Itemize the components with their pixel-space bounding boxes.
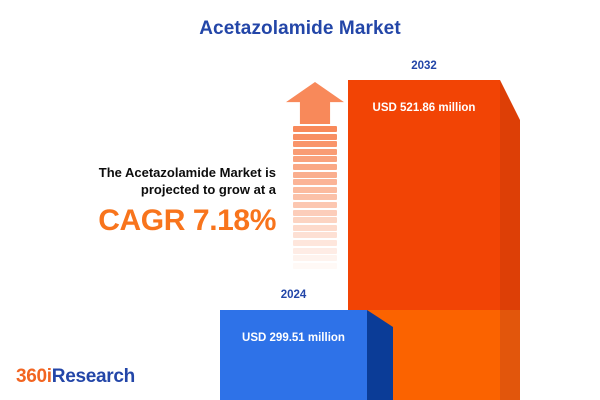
bar-value-2032: USD 521.86 million bbox=[348, 102, 500, 114]
arrow-stripe bbox=[293, 225, 337, 231]
arrow-stripe bbox=[293, 141, 337, 147]
cagr-statement: The Acetazolamide Market is projected to… bbox=[46, 164, 276, 238]
arrow-stripe bbox=[293, 202, 337, 208]
arrow-head-shape bbox=[286, 82, 344, 124]
bar-2024-side-face bbox=[367, 310, 393, 400]
arrow-stripe bbox=[293, 217, 337, 223]
arrow-stripe bbox=[293, 263, 337, 269]
arrow-stripe bbox=[293, 232, 337, 238]
arrow-stripe bbox=[293, 187, 337, 193]
arrow-stripe bbox=[293, 240, 337, 246]
arrow-stripe bbox=[293, 179, 337, 185]
bar-label-2032: 2032 bbox=[348, 60, 500, 72]
logo-360i: 360i bbox=[16, 366, 52, 387]
statement-line-1: The Acetazolamide Market is bbox=[99, 165, 276, 180]
arrow-stripe bbox=[293, 149, 337, 155]
infographic-canvas: Acetazolamide Market 2032 USD 521.86 mil… bbox=[0, 0, 600, 400]
bar-2024-front-face bbox=[220, 310, 367, 400]
logo-research: Research bbox=[52, 366, 135, 387]
arrow-stripe bbox=[293, 194, 337, 200]
arrow-stripe bbox=[293, 255, 337, 261]
arrow-stripe bbox=[293, 278, 337, 284]
brand-logo[interactable]: 360iResearch bbox=[16, 366, 135, 388]
arrow-stripe bbox=[293, 270, 337, 276]
page-title: Acetazolamide Market bbox=[0, 18, 600, 40]
bar-label-2024: 2024 bbox=[220, 289, 367, 301]
arrow-stripe bbox=[293, 134, 337, 140]
arrow-stripe bbox=[293, 164, 337, 170]
arrow-stripe bbox=[293, 172, 337, 178]
arrow-stripe bbox=[293, 210, 337, 216]
bar-2032-side-face-lower bbox=[500, 310, 520, 400]
statement-line-2: projected to grow at a bbox=[141, 182, 276, 197]
bar-2024: USD 299.51 million bbox=[220, 310, 393, 400]
arrow-stripe bbox=[293, 248, 337, 254]
arrow-stripe bbox=[293, 156, 337, 162]
statement-text: The Acetazolamide Market is projected to… bbox=[46, 164, 276, 198]
arrow-stripe bbox=[293, 126, 337, 132]
up-arrow-icon bbox=[286, 82, 344, 294]
cagr-value: CAGR 7.18% bbox=[46, 204, 276, 238]
bar-value-2024: USD 299.51 million bbox=[220, 332, 367, 344]
